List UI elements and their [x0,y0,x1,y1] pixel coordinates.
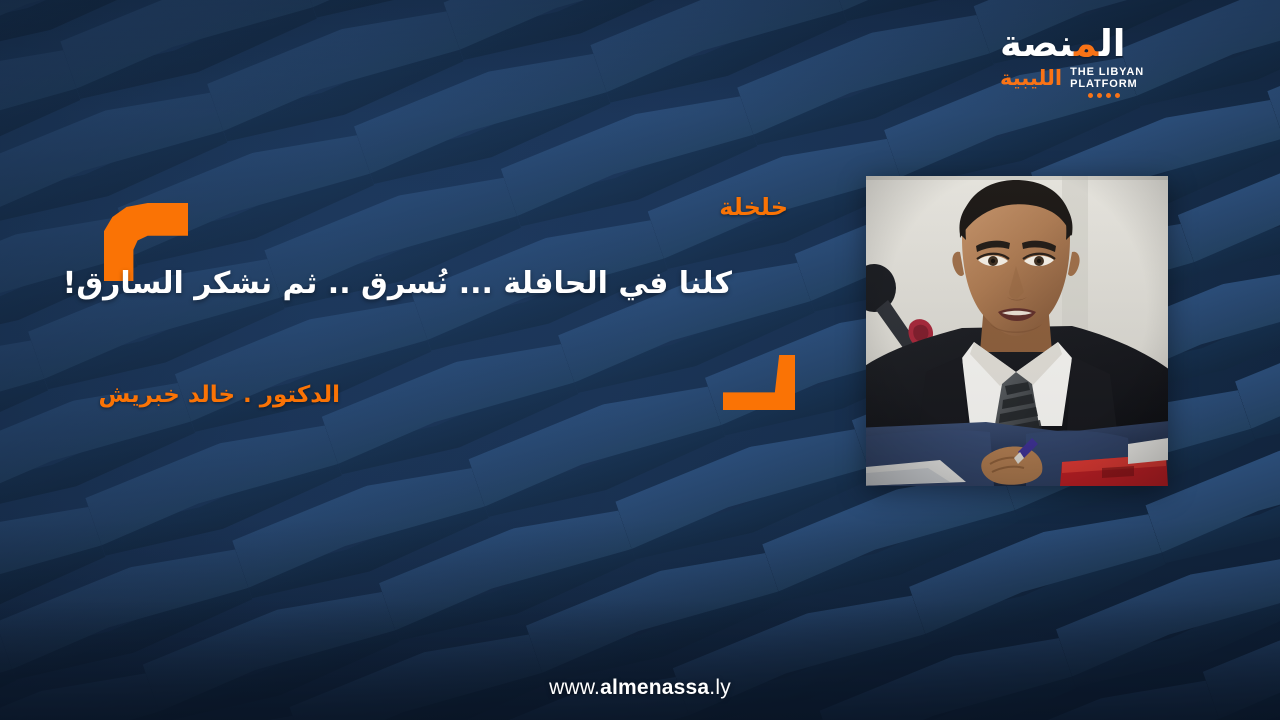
logo-main-text: المنصة [1000,26,1125,62]
logo-english-line-2: PLATFORM [1070,78,1144,91]
logo-dot [1115,93,1120,98]
quote-card-canvas: المنصة THE LIBYAN PLATFORM الليبية خلخلة… [0,0,1280,720]
logo-secondary-row: THE LIBYAN PLATFORM الليبية [1000,63,1176,93]
closing-quote-mark-icon [723,355,795,410]
portrait-illustration [866,176,1168,486]
logo-dots-decoration [1088,93,1120,98]
logo-english-line-1: THE LIBYAN [1070,66,1144,79]
brand-logo[interactable]: المنصة THE LIBYAN PLATFORM الليبية [1000,22,1176,94]
author-name: الدكتور . خالد خبريش [98,382,340,408]
website-name: almenassa [600,676,709,699]
logo-dot [1088,93,1093,98]
logo-sub-text: الليبية [1000,67,1062,89]
logo-accent-letter: م [1074,22,1099,65]
quote-text: كلنا في الحافلة ... نُسرق .. ثم نشكر الس… [63,262,732,306]
logo-english-text: THE LIBYAN PLATFORM [1070,66,1144,91]
logo-dot [1106,93,1111,98]
logo-arabic-main: المنصة [1000,22,1125,62]
section-kicker-label: خلخلة [719,193,788,221]
website-prefix: www. [549,676,600,699]
logo-dot [1097,93,1102,98]
speaker-portrait-photo [866,176,1168,486]
closing-quote-shape [723,355,795,410]
website-url[interactable]: www.almenassa.ly [0,676,1280,700]
website-tld: .ly [709,676,731,699]
